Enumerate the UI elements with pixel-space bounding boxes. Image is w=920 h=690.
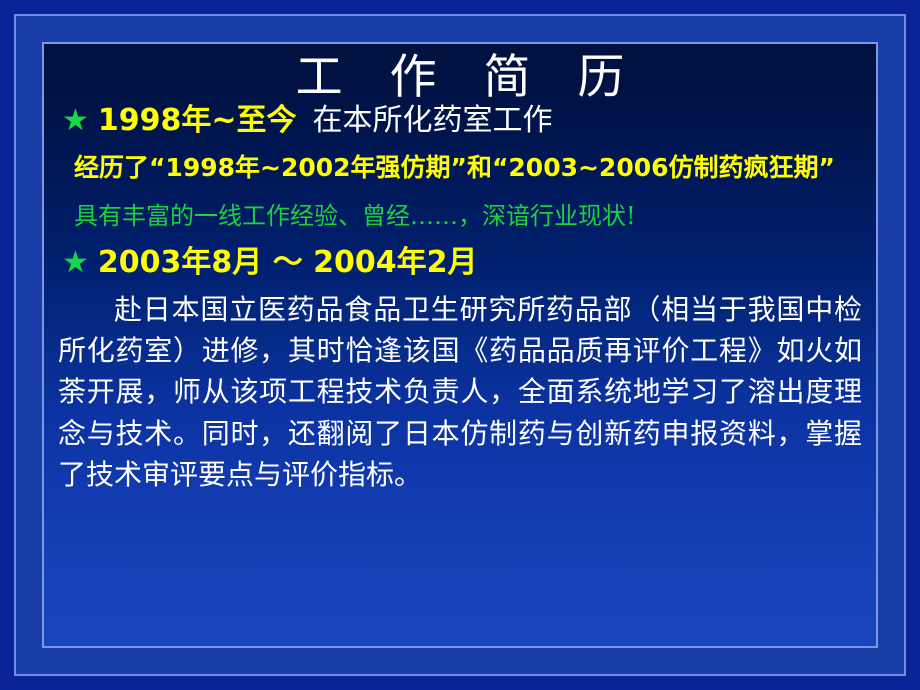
star-bullet-icon: ★	[62, 248, 89, 278]
highlight-note-yellow: 经历了“1998年~2002年强仿期”和“2003~2006仿制药疯狂期”	[44, 149, 876, 188]
star-bullet-icon: ★	[62, 106, 89, 136]
bullet-item-1-text: 在本所化药室工作	[313, 103, 553, 139]
presentation-slide: 工 作 简 历 ★ 1998年~至今 在本所化药室工作 经历了“1998年~20…	[0, 0, 920, 690]
bullet-item-1-date: 1998年~至今	[98, 103, 297, 139]
bullet-item-1: ★ 1998年~至今 在本所化药室工作	[44, 103, 876, 139]
highlight-note-green: 具有丰富的一线工作经验、曾经……，深谙行业现状!	[44, 201, 876, 232]
bullet-item-2-date: 2003年8月 ～ 2004年2月	[98, 245, 478, 281]
body-paragraph: 赴日本国立医药品食品卫生研究所药品部（相当于我国中检所化药室）进修，其时恰逢该国…	[44, 289, 876, 496]
slide-title: 工 作 简 历	[44, 44, 876, 105]
bullet-item-2: ★ 2003年8月 ～ 2004年2月	[44, 245, 876, 281]
slide-content-area: 工 作 简 历 ★ 1998年~至今 在本所化药室工作 经历了“1998年~20…	[44, 44, 876, 646]
